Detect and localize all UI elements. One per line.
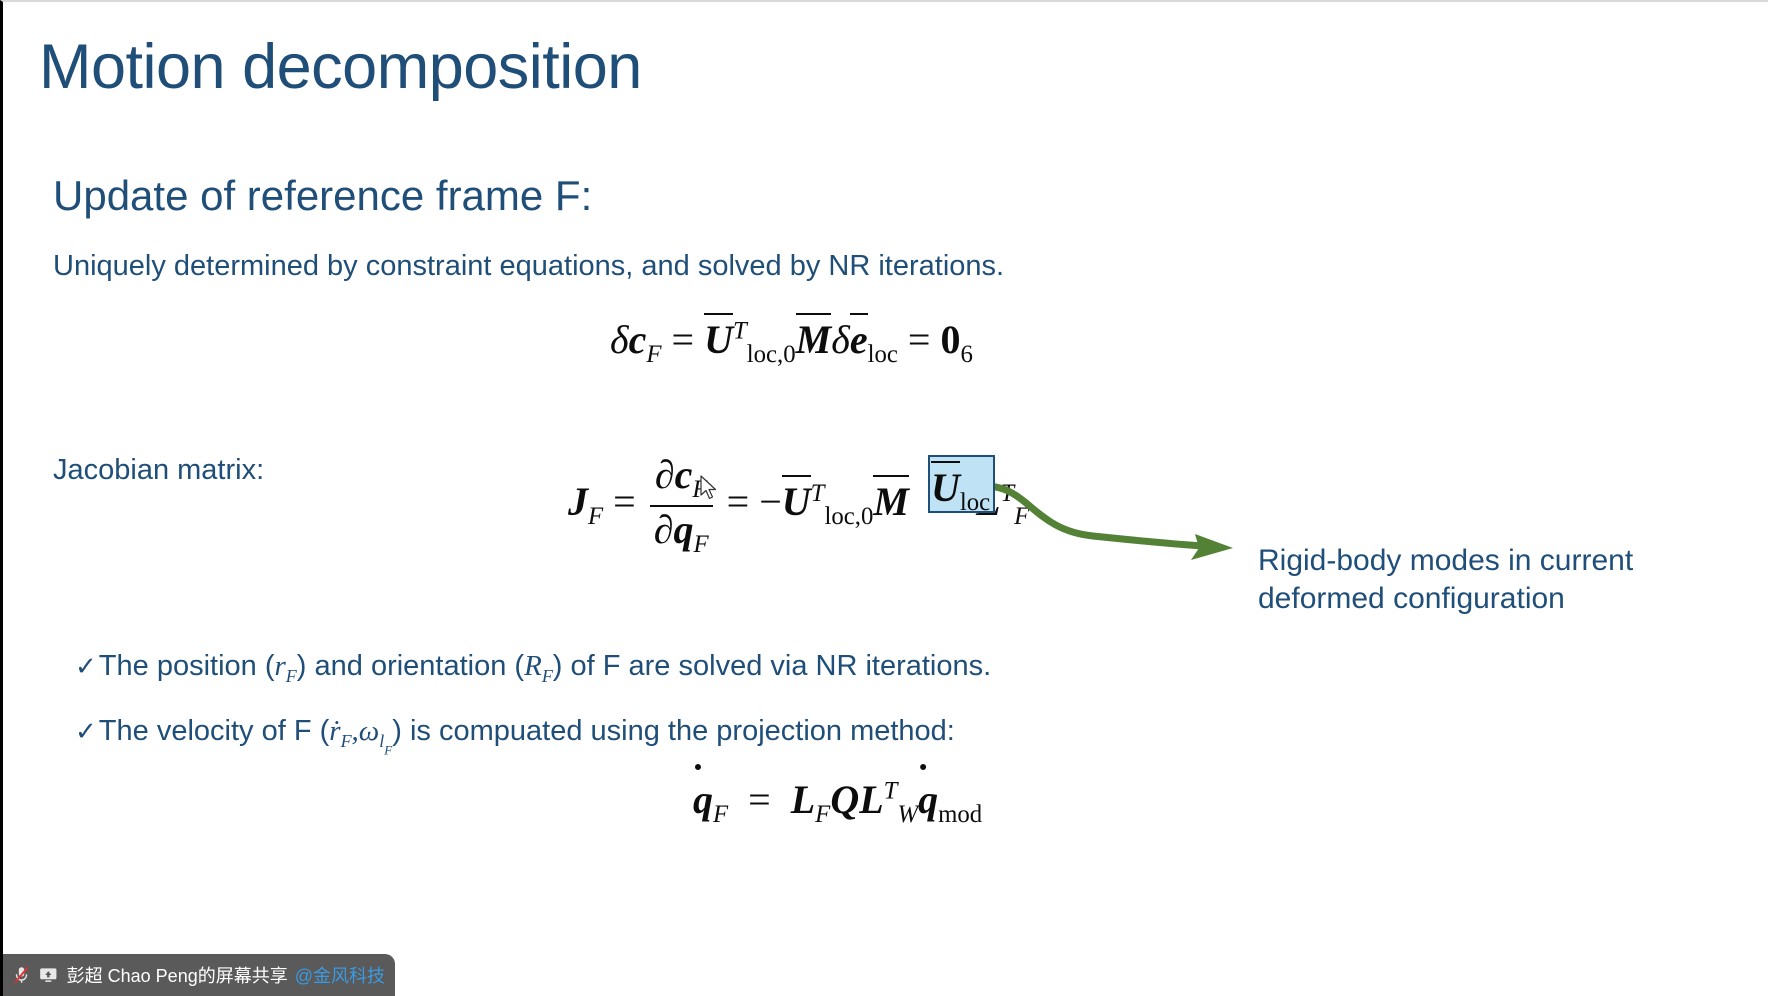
u-subscript: loc,0: [824, 503, 873, 530]
c-vector-num: c: [675, 452, 693, 497]
u-subscript: loc,0: [747, 341, 796, 368]
share-handle-text: @金风科技: [295, 962, 385, 988]
omega-symbol: ω: [359, 715, 379, 747]
u-matrix-bar-highlighted: U: [931, 464, 960, 511]
callout-line-1: Rigid-body modes in current: [1258, 542, 1728, 580]
e-vector-bar: e: [850, 316, 868, 363]
c-subscript: F: [646, 341, 661, 368]
microphone-muted-icon[interactable]: [13, 963, 30, 987]
screen-share-toolbar[interactable]: 彭超 Chao Peng的屏幕共享 @金风科技: [3, 954, 395, 996]
qdot-group: q̇: [693, 776, 713, 823]
equals-sign-2: =: [908, 317, 931, 362]
rdot-symbol: ṙ: [329, 715, 340, 747]
share-status-text: 彭超 Chao Peng的屏幕共享: [67, 962, 288, 988]
lead-paragraph: Uniquely determined by constraint equati…: [53, 250, 1004, 283]
jacobian-label: Jacobian matrix:: [53, 454, 264, 487]
section-heading: Update of reference frame F:: [53, 172, 592, 220]
slide-canvas: Motion decomposition Update of reference…: [0, 0, 1768, 996]
equals-sign-2: =: [727, 479, 750, 524]
bullet-text-a: The position (: [99, 650, 275, 682]
bullet-text-b: ) and orientation (: [297, 650, 524, 682]
callout-text: Rigid-body modes in current deformed con…: [1258, 542, 1728, 619]
list-item: ✓The velocity of F (ṙF,ωlF) is compuate…: [75, 715, 955, 758]
q-subscript: F: [713, 801, 728, 828]
l2-transpose-superscript: T: [884, 778, 898, 805]
bullet-text-c: ) is compuated using the projection meth…: [392, 715, 955, 747]
R-subscript: F: [542, 666, 553, 686]
constraint-equation: δcF = UTloc,0Mδeloc = 06: [610, 316, 973, 369]
velocity-equation: q̇F = LFQLTWq̇mod: [693, 776, 982, 829]
R-symbol: R: [524, 650, 542, 682]
l-matrix-2: L: [859, 777, 883, 822]
equals-sign-1: =: [613, 479, 636, 524]
l2-subscript: W: [897, 801, 918, 828]
m-matrix-bar: M: [873, 478, 909, 525]
bullet-text-a: The velocity of F (: [99, 715, 329, 747]
c-vector: c: [629, 317, 647, 362]
q-subscript-den: F: [693, 531, 708, 558]
q2-subscript: mod: [938, 801, 982, 828]
q-matrix: Q: [830, 777, 859, 822]
j-matrix: J: [568, 479, 588, 524]
l-matrix-1: L: [791, 777, 815, 822]
zero-subscript: 6: [960, 341, 972, 368]
delta-symbol-2: δ: [831, 317, 850, 362]
u-transpose-superscript: T: [811, 480, 825, 507]
j-subscript: F: [588, 503, 603, 530]
e-subscript: loc: [868, 341, 898, 368]
u-matrix-bar: U: [782, 478, 811, 525]
bullet-text-c: ) of F are solved via NR iterations.: [553, 650, 991, 682]
rdot-subscript: F: [341, 731, 352, 751]
check-icon: ✓: [75, 651, 97, 681]
partial-symbol-num: ∂: [655, 452, 675, 497]
r-subscript: F: [286, 666, 297, 686]
check-icon: ✓: [75, 716, 97, 746]
zero-vector: 0: [940, 317, 960, 362]
callout-arrow-icon: [981, 472, 1241, 562]
l1-subscript: F: [815, 801, 830, 828]
r-symbol: r: [275, 650, 286, 682]
delta-symbol: δ: [610, 317, 629, 362]
screen-share-icon[interactable]: [39, 964, 58, 986]
q-vector-den: q: [673, 507, 693, 552]
u-transpose-superscript: T: [733, 318, 747, 345]
u-subscript-highlighted: loc: [960, 489, 990, 516]
equals-sign: =: [748, 777, 771, 822]
partial-derivative-fraction: ∂cF ∂qF: [650, 454, 713, 558]
qdot-mod-group: q̇: [918, 776, 938, 823]
u-matrix-bar: U: [704, 316, 733, 363]
list-item: ✓The position (rF) and orientation (RF) …: [75, 650, 991, 687]
callout-line-2: deformed configuration: [1258, 580, 1728, 618]
page-title: Motion decomposition: [39, 34, 642, 100]
fraction-denominator: ∂qF: [650, 505, 713, 558]
m-matrix-bar: M: [796, 316, 832, 363]
equals-sign-1: =: [672, 317, 695, 362]
mouse-cursor-icon: [700, 475, 720, 501]
q-vector: q: [693, 777, 713, 822]
highlighted-u-loc-symbol: Uloc: [931, 464, 990, 517]
partial-symbol-den: ∂: [654, 507, 674, 552]
minus-sign: −: [759, 479, 782, 524]
q-vector-2: q: [918, 777, 938, 822]
comma-separator: ,: [352, 715, 359, 747]
